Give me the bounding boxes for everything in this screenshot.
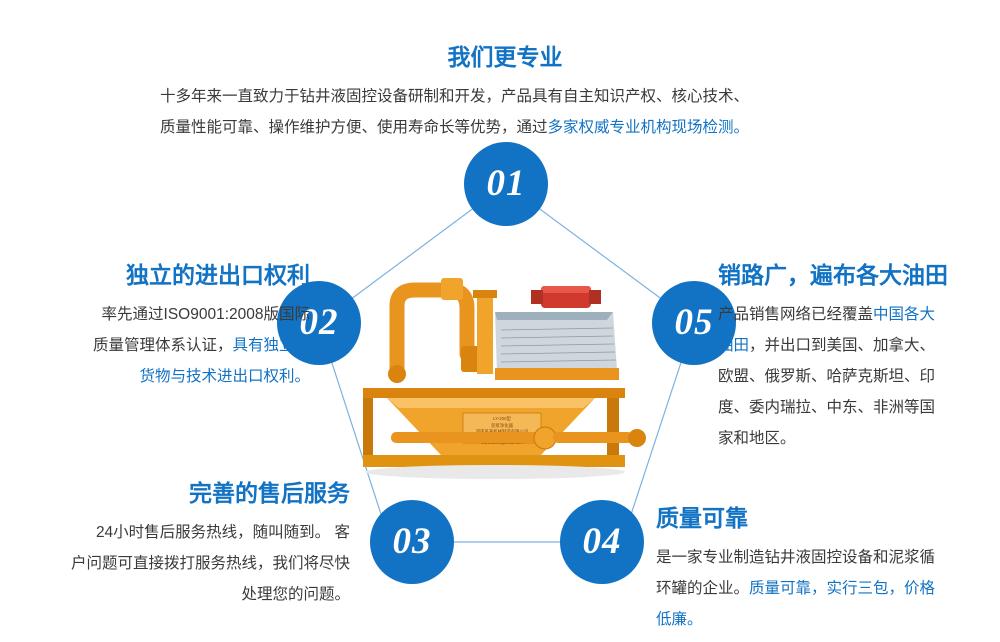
feature-body-01: 十多年来一直致力于钻井液固控设备研制和开发，产品具有自主知识产权、核心技术、 质…: [160, 81, 850, 143]
feature-line: 户问题可直接拨打服务热线，我们将尽快: [20, 548, 350, 579]
feature-line: 欧盟、俄罗斯、哈萨克斯坦、印: [718, 361, 988, 392]
feature-line: 质量管理体系认证，具有独立的: [20, 330, 310, 361]
step-circle-04[interactable]: 04: [560, 500, 644, 584]
line-text: 十多年来一直致力于钻井液固控设备研制和开发，产品具有自主知识产权、核心技术、: [160, 88, 749, 105]
feature-line: 率先通过ISO9001:2008版国际: [20, 299, 310, 330]
feature-title-04: 质量可靠: [656, 505, 986, 533]
line-text: 度、委内瑞拉、中东、非洲等国: [718, 399, 935, 416]
feature-line: 产品销售网络已经覆盖中国各大: [718, 299, 988, 330]
feature-line: 家和地区。: [718, 423, 988, 454]
line-text: 环罐的企业。: [656, 580, 749, 597]
line-highlight: 中国各大: [873, 306, 935, 323]
feature-line: 十多年来一直致力于钻井液固控设备研制和开发，产品具有自主知识产权、核心技术、: [160, 81, 850, 112]
line-text: 率先通过ISO9001:2008版国际: [102, 306, 310, 323]
feature-line: 环罐的企业。质量可靠，实行三包，价格: [656, 573, 986, 604]
line-highlight: 低廉。: [656, 611, 703, 628]
feature-line: 度、委内瑞拉、中东、非洲等国: [718, 392, 988, 423]
feature-title-05: 销路广，遍布各大油田: [718, 262, 988, 290]
equipment-illustration: LY-200型 泥浆净化器 河南某某机械制造有限公司 TEL：138387101…: [345, 250, 655, 485]
step-number-04: 04: [583, 520, 622, 563]
feature-title-03: 完善的售后服务: [20, 480, 350, 508]
line-text: 质量性能可靠、操作维护方便、使用寿命长等优势，通过: [160, 119, 548, 136]
line-highlight: 油田: [718, 337, 749, 354]
feature-body-02: 率先通过ISO9001:2008版国际 质量管理体系认证，具有独立的 货物与技术…: [20, 299, 310, 392]
feature-line: 质量性能可靠、操作维护方便、使用寿命长等优势，通过多家权威专业机构现场检测。: [160, 112, 850, 143]
feature-title-01: 我们更专业: [160, 44, 850, 72]
feature-line: 24小时售后服务热线，随叫随到。 客: [20, 517, 350, 548]
line-text: 家和地区。: [718, 430, 796, 447]
line-highlight: 多家权威专业机构现场检测。: [548, 119, 750, 136]
line-text: ，并出口到美国、加拿大、: [749, 337, 935, 354]
feature-body-04: 是一家专业制造钻井液固控设备和泥浆循 环罐的企业。质量可靠，实行三包，价格 低廉…: [656, 542, 986, 635]
feature-block-02: 独立的进出口权利 率先通过ISO9001:2008版国际 质量管理体系认证，具有…: [20, 262, 310, 392]
line-text: 欧盟、俄罗斯、哈萨克斯坦、印: [718, 368, 935, 385]
product-image: LY-200型 泥浆净化器 河南某某机械制造有限公司 TEL：138387101…: [345, 250, 655, 485]
line-text: 是一家专业制造钻井液固控设备和泥浆循: [656, 549, 935, 566]
line-text: 处理您的问题。: [241, 586, 350, 603]
line-highlight: 具有独立的: [232, 337, 310, 354]
infographic-stage: LY-200型 泥浆净化器 河南某某机械制造有限公司 TEL：138387101…: [0, 0, 1000, 642]
line-text: 质量管理体系认证，: [93, 337, 233, 354]
step-number-05: 05: [675, 301, 714, 344]
step-number-01: 01: [487, 162, 526, 205]
feature-body-03: 24小时售后服务热线，随叫随到。 客 户问题可直接拨打服务热线，我们将尽快 处理…: [20, 517, 350, 610]
feature-line: 处理您的问题。: [20, 579, 350, 610]
feature-line: 低廉。: [656, 604, 986, 635]
svg-text:泥浆净化器: 泥浆净化器: [491, 422, 514, 429]
feature-line: 是一家专业制造钻井液固控设备和泥浆循: [656, 542, 986, 573]
step-number-03: 03: [393, 520, 432, 563]
line-text: 户问题可直接拨打服务热线，我们将尽快: [71, 555, 350, 572]
feature-line: 货物与技术进出口权利。: [20, 361, 310, 392]
feature-block-01: 我们更专业 十多年来一直致力于钻井液固控设备研制和开发，产品具有自主知识产权、核…: [160, 44, 850, 143]
step-circle-01[interactable]: 01: [464, 142, 548, 226]
line-text: 产品销售网络已经覆盖: [718, 306, 873, 323]
line-highlight: 货物与技术进出口权利。: [139, 368, 310, 385]
step-circle-03[interactable]: 03: [370, 500, 454, 584]
feature-block-03: 完善的售后服务 24小时售后服务热线，随叫随到。 客 户问题可直接拨打服务热线，…: [20, 480, 350, 610]
feature-title-02: 独立的进出口权利: [20, 262, 310, 290]
feature-body-05: 产品销售网络已经覆盖中国各大 油田，并出口到美国、加拿大、 欧盟、俄罗斯、哈萨克…: [718, 299, 988, 454]
feature-block-05: 销路广，遍布各大油田 产品销售网络已经覆盖中国各大 油田，并出口到美国、加拿大、…: [718, 262, 988, 454]
feature-line: 油田，并出口到美国、加拿大、: [718, 330, 988, 361]
line-highlight: 质量可靠，实行三包，价格: [749, 580, 935, 597]
line-text: 24小时售后服务热线，随叫随到。 客: [96, 524, 350, 541]
feature-block-04: 质量可靠 是一家专业制造钻井液固控设备和泥浆循 环罐的企业。质量可靠，实行三包，…: [656, 505, 986, 635]
svg-text:LY-200型: LY-200型: [493, 415, 511, 421]
